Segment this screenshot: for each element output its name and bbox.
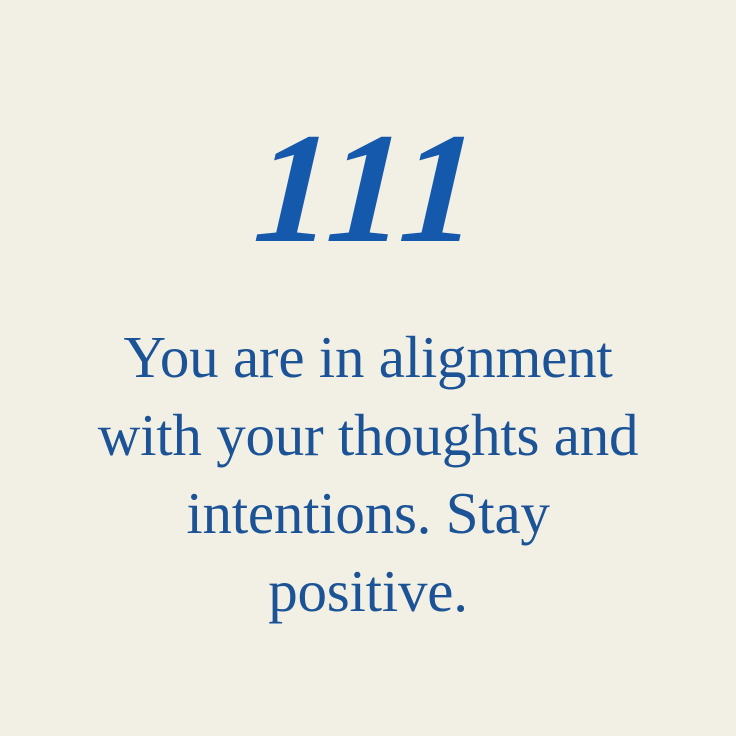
affirmation-text-block: You are in alignment with your thoughts …: [0, 318, 736, 630]
angel-number-quote-card: 111 You are in alignment with your thoug…: [0, 0, 736, 736]
affirmation-line-2: with your thoughts and: [0, 396, 736, 474]
angel-number-heading: 111: [0, 110, 736, 268]
affirmation-line-3: intentions. Stay: [0, 474, 736, 552]
affirmation-line-4: positive.: [0, 552, 736, 630]
affirmation-line-1: You are in alignment: [0, 318, 736, 396]
